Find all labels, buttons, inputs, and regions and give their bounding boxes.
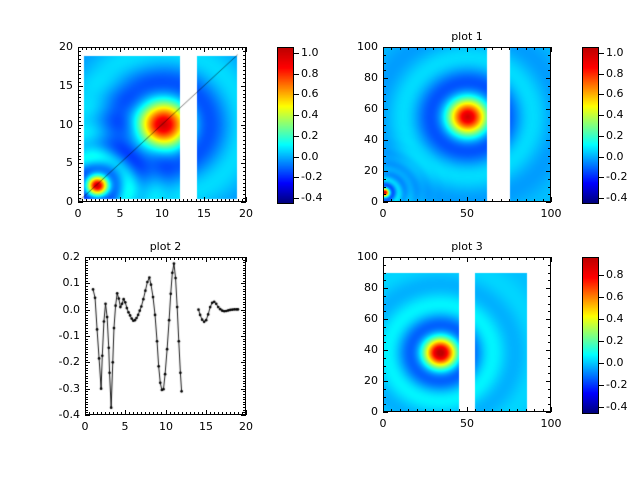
plot3-ytick-minor bbox=[383, 373, 386, 374]
plot1-cbar-tick bbox=[599, 94, 604, 95]
plot0-xtick-minor-top bbox=[170, 47, 171, 50]
plot3-xtick-minor bbox=[408, 409, 409, 412]
plot2-ytick-minor-right bbox=[243, 394, 246, 395]
plot2-ytick-major-right bbox=[241, 415, 246, 416]
plot1-yticklabel: 40 bbox=[335, 133, 378, 146]
plot1-cbar-ticklabel: 0.6 bbox=[606, 87, 640, 100]
plot1-ytick-minor bbox=[383, 132, 386, 133]
plot3-xtick-minor-top bbox=[408, 257, 409, 260]
plot1-ytick-major bbox=[383, 140, 388, 141]
plot3-xticklabel: 100 bbox=[531, 417, 571, 430]
plot3-xtick-minor-top bbox=[501, 257, 502, 260]
plot2-xtick-minor bbox=[113, 412, 114, 415]
plot0-ytick-minor-right bbox=[243, 70, 246, 71]
plot3-xticklabel: 0 bbox=[363, 417, 403, 430]
plot0-xtick-minor bbox=[91, 199, 92, 202]
plot1-ytick-minor-right bbox=[548, 63, 551, 64]
plot3-xtick-minor bbox=[417, 409, 418, 412]
plot2-xtick-minor bbox=[226, 412, 227, 415]
plot2-xtick-minor bbox=[109, 412, 110, 415]
plot0-xticklabel: 20 bbox=[226, 207, 266, 220]
plot3-ytick-major bbox=[383, 381, 388, 382]
plot2-xticklabel: 5 bbox=[105, 420, 145, 433]
plot1-ytick-minor bbox=[383, 125, 386, 126]
plot0-cbar-ticklabel: 0.0 bbox=[301, 150, 341, 163]
plot0-xtick-minor-top bbox=[124, 47, 125, 50]
plot1-yticklabel: 60 bbox=[335, 102, 378, 115]
plot3-xtick-minor-top bbox=[509, 257, 510, 260]
plot2-ytick-minor-right bbox=[243, 402, 246, 403]
plot2-xtick-minor-top bbox=[202, 257, 203, 260]
plot0-xtick-minor bbox=[103, 199, 104, 202]
plot1-cbar-tick bbox=[599, 53, 604, 54]
plot1-cbar-tick bbox=[599, 74, 604, 75]
plot0-ytick-minor bbox=[78, 59, 81, 60]
plot2-xtick-minor bbox=[93, 412, 94, 415]
plot3-xtick-minor-top bbox=[526, 257, 527, 260]
plot0-xtick-minor bbox=[124, 199, 125, 202]
plot2-xtick-minor bbox=[214, 412, 215, 415]
plot1-cbar-ticklabel: 0.2 bbox=[606, 129, 640, 142]
plot0-xtick-minor bbox=[200, 199, 201, 202]
plot0-xtick-minor-top bbox=[112, 47, 113, 50]
plot1-xtick-minor-top bbox=[408, 47, 409, 50]
plot2-ytick-minor-right bbox=[243, 354, 246, 355]
plot0-xtick-minor-top bbox=[107, 47, 108, 50]
plot2-ytick-major bbox=[85, 336, 90, 337]
plot0-xtick-minor-top bbox=[116, 47, 117, 50]
plot0-xtick-major-top bbox=[162, 47, 163, 52]
plot0-ytick-minor bbox=[78, 94, 81, 95]
plot0-ytick-minor bbox=[78, 55, 81, 56]
plot2-yticklabel: -0.4 bbox=[37, 408, 80, 421]
plot3-xtick-minor-top bbox=[543, 257, 544, 260]
plot2-ytick-minor-right bbox=[243, 391, 246, 392]
plot0-ytick-minor-right bbox=[243, 109, 246, 110]
plot2-xtick-major-top bbox=[125, 257, 126, 262]
plot0-cbar-tick bbox=[294, 177, 299, 178]
plot1-yticklabel: 0 bbox=[335, 195, 378, 208]
plot2-yticklabel: 0.1 bbox=[37, 276, 80, 289]
plot0-xtick-minor bbox=[187, 199, 188, 202]
plot0-cbar-tick bbox=[294, 136, 299, 137]
plot1-xtick-minor-top bbox=[417, 47, 418, 50]
plot2-ytick-major-right bbox=[241, 283, 246, 284]
plot3-ytick-major bbox=[383, 288, 388, 289]
plot2-ytick-minor bbox=[85, 352, 88, 353]
plot1-ytick-major-right bbox=[546, 171, 551, 172]
plot3-xtick-minor-top bbox=[442, 257, 443, 260]
plot2-ytick-minor-right bbox=[243, 304, 246, 305]
plot2-ytick-minor-right bbox=[243, 368, 246, 369]
plot2-ytick-major bbox=[85, 362, 90, 363]
plot3-xtick-minor-top bbox=[459, 257, 460, 260]
plot1-ytick-minor-right bbox=[548, 55, 551, 56]
plot0-xtick-minor bbox=[141, 199, 142, 202]
plot2-ytick-minor-right bbox=[243, 383, 246, 384]
plot0-ytick-major bbox=[78, 163, 83, 164]
plot2-xtick-minor bbox=[153, 412, 154, 415]
plot3-yticklabel: 80 bbox=[335, 281, 378, 294]
plot0-xtick-minor bbox=[208, 199, 209, 202]
plot2-ytick-minor bbox=[85, 262, 88, 263]
plot2-ytick-minor-right bbox=[243, 268, 246, 269]
plot0-xtick-minor-top bbox=[91, 47, 92, 50]
plot1-cbar-ticklabel: -0.2 bbox=[606, 170, 640, 183]
plot0-xtick-minor bbox=[158, 199, 159, 202]
plot0-ytick-minor bbox=[78, 128, 81, 129]
plot3-yticklabel: 40 bbox=[335, 343, 378, 356]
plot0-xtick-minor-top bbox=[95, 47, 96, 50]
plot2-xtick-minor-top bbox=[186, 257, 187, 260]
plot0-xtick-minor bbox=[175, 199, 176, 202]
plot2-xtick-minor-top bbox=[97, 257, 98, 260]
plot0-xtick-minor-top bbox=[196, 47, 197, 50]
plot1-ytick-minor-right bbox=[548, 86, 551, 87]
plot0-ytick-minor-right bbox=[243, 94, 246, 95]
plot2-ytick-minor-right bbox=[243, 407, 246, 408]
plot0-ytick-minor-right bbox=[243, 101, 246, 102]
plot2-xtick-minor bbox=[230, 412, 231, 415]
plot2-ytick-minor-right bbox=[243, 262, 246, 263]
plot3-ytick-minor bbox=[383, 358, 386, 359]
plot3-ytick-minor-right bbox=[548, 311, 551, 312]
plot2-xtick-minor-top bbox=[153, 257, 154, 260]
plot3-xtick-minor bbox=[492, 409, 493, 412]
plot2-yticklabel: -0.1 bbox=[37, 329, 80, 342]
plot2-ytick-minor bbox=[85, 347, 88, 348]
plot2-ytick-minor bbox=[85, 268, 88, 269]
plot2-ytick-major-right bbox=[241, 310, 246, 311]
plot2-ytick-minor bbox=[85, 278, 88, 279]
plot3-ytick-major-right bbox=[546, 381, 551, 382]
plot1-ytick-minor bbox=[383, 179, 386, 180]
plot1-colorbar bbox=[582, 47, 599, 204]
plot2-ytick-minor bbox=[85, 299, 88, 300]
plot2-ytick-minor-right bbox=[243, 410, 246, 411]
plot1-yticklabel: 100 bbox=[335, 40, 378, 53]
plot2-xtick-major-top bbox=[206, 257, 207, 262]
plot0-xtick-minor-top bbox=[137, 47, 138, 50]
plot0-xticklabel: 15 bbox=[184, 207, 224, 220]
plot2-ytick-minor-right bbox=[243, 341, 246, 342]
plot3-ytick-minor-right bbox=[548, 404, 551, 405]
plot1-ytick-minor bbox=[383, 148, 386, 149]
plot2-xtick-major-top bbox=[166, 257, 167, 262]
plot1-xtick-major bbox=[551, 197, 552, 202]
plot2-xtick-minor-top bbox=[133, 257, 134, 260]
plot2-xtick-minor-top bbox=[214, 257, 215, 260]
plot1-xtick-minor bbox=[543, 199, 544, 202]
plot3-cbar-tick bbox=[599, 407, 604, 408]
plot2-yticklabel: -0.3 bbox=[37, 382, 80, 395]
plot2-xtick-minor bbox=[186, 412, 187, 415]
plot3-xtick-minor bbox=[433, 409, 434, 412]
plot3-xtick-minor bbox=[543, 409, 544, 412]
plot1-ytick-minor-right bbox=[548, 117, 551, 118]
plot3-cbar-tick bbox=[599, 341, 604, 342]
plot2-title: plot 2 bbox=[85, 240, 246, 253]
plot3-ytick-minor bbox=[383, 327, 386, 328]
plot2-ytick-minor bbox=[85, 331, 88, 332]
plot3-ytick-major bbox=[383, 412, 388, 413]
plot3-cbar-tick bbox=[599, 319, 604, 320]
plot2-ytick-minor bbox=[85, 370, 88, 371]
plot2-xtick-minor bbox=[222, 412, 223, 415]
plot3-cbar-ticklabel: 0.6 bbox=[606, 290, 640, 303]
plot3-xtick-minor-top bbox=[484, 257, 485, 260]
plot2-xtick-minor bbox=[202, 412, 203, 415]
plot0-xtick-minor-top bbox=[187, 47, 188, 50]
plot2-ytick-minor-right bbox=[243, 381, 246, 382]
plot1-xtick-minor bbox=[425, 199, 426, 202]
plot2-ytick-minor bbox=[85, 381, 88, 382]
plot3-yticklabel: 20 bbox=[335, 374, 378, 387]
plot0-ytick-minor-right bbox=[243, 63, 246, 64]
plot2-xtick-minor-top bbox=[157, 257, 158, 260]
plot2-xticklabel: 20 bbox=[226, 420, 266, 433]
plot0-xtick-minor bbox=[116, 199, 117, 202]
plot1-ytick-minor bbox=[383, 194, 386, 195]
plot2-ytick-minor-right bbox=[243, 297, 246, 298]
plot0-cbar-ticklabel: 0.6 bbox=[301, 87, 341, 100]
plot0-cbar-tick bbox=[294, 157, 299, 158]
plot2-ytick-minor-right bbox=[243, 365, 246, 366]
plot3-ytick-minor bbox=[383, 296, 386, 297]
plot2-xtick-minor bbox=[234, 412, 235, 415]
plot1-xtick-minor-top bbox=[492, 47, 493, 50]
plot2-xticklabel: 15 bbox=[186, 420, 226, 433]
plot1-ytick-minor-right bbox=[548, 148, 551, 149]
plot1-ytick-minor-right bbox=[548, 163, 551, 164]
plot2-xtick-minor-top bbox=[145, 257, 146, 260]
plot3-ytick-major-right bbox=[546, 288, 551, 289]
plot0-xtick-minor bbox=[95, 199, 96, 202]
plot3-ytick-minor-right bbox=[548, 273, 551, 274]
plot3-xtick-minor-top bbox=[492, 257, 493, 260]
plot2-ytick-minor-right bbox=[243, 386, 246, 387]
plot2-ytick-minor bbox=[85, 339, 88, 340]
plot0-xtick-minor-top bbox=[141, 47, 142, 50]
plot2-ytick-minor bbox=[85, 323, 88, 324]
plot1-ytick-major bbox=[383, 171, 388, 172]
plot2-ytick-minor-right bbox=[243, 315, 246, 316]
plot0-ytick-minor bbox=[78, 82, 81, 83]
plot1-yticklabel: 80 bbox=[335, 71, 378, 84]
plot0-ytick-minor-right bbox=[243, 105, 246, 106]
plot3-ytick-major bbox=[383, 257, 388, 258]
plot2-xtick-major bbox=[246, 410, 247, 415]
plot0-xtick-minor-top bbox=[103, 47, 104, 50]
plot1-xtick-minor bbox=[417, 199, 418, 202]
plot1-ytick-minor-right bbox=[548, 70, 551, 71]
plot3-xtick-major-top bbox=[467, 257, 468, 262]
plot1-cbar-ticklabel: 0.4 bbox=[606, 108, 640, 121]
plot1-ytick-minor bbox=[383, 63, 386, 64]
plot0-yticklabel: 15 bbox=[30, 79, 73, 92]
plot2-ytick-minor bbox=[85, 399, 88, 400]
plot0-xtick-minor bbox=[128, 199, 129, 202]
plot0-xtick-major bbox=[120, 197, 121, 202]
plot0-xtick-minor-top bbox=[212, 47, 213, 50]
plot3-xtick-minor bbox=[425, 409, 426, 412]
plot0-ytick-major bbox=[78, 47, 83, 48]
plot0-xtick-major bbox=[204, 197, 205, 202]
plot0-xtick-minor-top bbox=[225, 47, 226, 50]
plot0-ytick-minor-right bbox=[243, 152, 246, 153]
plot0-ytick-minor bbox=[78, 97, 81, 98]
plot0-ytick-minor bbox=[78, 121, 81, 122]
plot2-xtick-minor-top bbox=[117, 257, 118, 260]
plot0-ytick-major-right bbox=[241, 47, 246, 48]
plot1-xtick-minor bbox=[534, 199, 535, 202]
plot0-xtick-major bbox=[246, 197, 247, 202]
plot0-xtick-minor bbox=[154, 199, 155, 202]
plot0-ytick-minor-right bbox=[243, 179, 246, 180]
plot0-ytick-minor bbox=[78, 136, 81, 137]
plot2-ytick-minor-right bbox=[243, 328, 246, 329]
plot0-ytick-minor-right bbox=[243, 140, 246, 141]
plot1-xtick-minor-top bbox=[526, 47, 527, 50]
plot2-ytick-minor-right bbox=[243, 270, 246, 271]
plot2-xtick-minor-top bbox=[93, 257, 94, 260]
plot1-xtick-minor-top bbox=[391, 47, 392, 50]
plot2-xtick-minor bbox=[149, 412, 150, 415]
plot1-ytick-minor-right bbox=[548, 125, 551, 126]
plot2-ytick-minor bbox=[85, 302, 88, 303]
plot2-ytick-minor bbox=[85, 407, 88, 408]
plot0-xtick-minor bbox=[149, 199, 150, 202]
plot2-ytick-minor-right bbox=[243, 331, 246, 332]
plot3-xtick-minor bbox=[391, 409, 392, 412]
plot2-ytick-minor-right bbox=[243, 333, 246, 334]
plot2-ytick-minor bbox=[85, 412, 88, 413]
plot2-xtick-minor-top bbox=[161, 257, 162, 260]
plot3-ytick-minor-right bbox=[548, 397, 551, 398]
plot3-xtick-major bbox=[467, 407, 468, 412]
plot0-ytick-minor-right bbox=[243, 59, 246, 60]
plot3-ytick-major-right bbox=[546, 412, 551, 413]
plot0-xtick-minor bbox=[170, 199, 171, 202]
plot2-xtick-minor bbox=[137, 412, 138, 415]
plot2-ytick-minor bbox=[85, 360, 88, 361]
plot2-ytick-minor bbox=[85, 333, 88, 334]
plot2-xtick-minor bbox=[210, 412, 211, 415]
plot3-ytick-minor-right bbox=[548, 366, 551, 367]
plot0-ytick-minor-right bbox=[243, 187, 246, 188]
plot3-xtick-minor-top bbox=[450, 257, 451, 260]
plot0-ytick-minor bbox=[78, 51, 81, 52]
plot0-ytick-minor bbox=[78, 113, 81, 114]
plot2-xtick-minor bbox=[157, 412, 158, 415]
plot1-ytick-major bbox=[383, 109, 388, 110]
plot1-heatmap bbox=[384, 48, 550, 201]
plot2-ytick-minor-right bbox=[243, 349, 246, 350]
plot2-ytick-minor-right bbox=[243, 302, 246, 303]
plot1-ytick-major bbox=[383, 47, 388, 48]
plot3-yticklabel: 100 bbox=[335, 250, 378, 263]
plot2-ytick-minor-right bbox=[243, 339, 246, 340]
plot0-xtick-minor bbox=[233, 199, 234, 202]
plot1-ytick-minor-right bbox=[548, 179, 551, 180]
plot2-ytick-minor bbox=[85, 394, 88, 395]
plot0-xtick-minor-top bbox=[200, 47, 201, 50]
plot1-ytick-minor bbox=[383, 163, 386, 164]
plot1-ytick-major bbox=[383, 202, 388, 203]
plot3-ytick-minor-right bbox=[548, 358, 551, 359]
plot2-ytick-major bbox=[85, 389, 90, 390]
plot2-xtick-minor bbox=[190, 412, 191, 415]
plot2-xtick-major-top bbox=[246, 257, 247, 262]
plot3-ytick-minor bbox=[383, 404, 386, 405]
plot0-xtick-minor-top bbox=[149, 47, 150, 50]
plot2-ytick-minor bbox=[85, 354, 88, 355]
plot1-ytick-major-right bbox=[546, 109, 551, 110]
plot0-ytick-minor-right bbox=[243, 113, 246, 114]
plot2-ytick-minor bbox=[85, 273, 88, 274]
plot1-ytick-minor bbox=[383, 117, 386, 118]
plot0-ytick-major-right bbox=[241, 163, 246, 164]
plot0-ytick-minor-right bbox=[243, 167, 246, 168]
plot2-ytick-minor bbox=[85, 328, 88, 329]
plot0-ytick-major bbox=[78, 202, 83, 203]
plot2-ytick-minor bbox=[85, 291, 88, 292]
plot0-ytick-minor bbox=[78, 70, 81, 71]
plot0-ytick-minor-right bbox=[243, 82, 246, 83]
plot2-ytick-minor bbox=[85, 325, 88, 326]
plot3-ytick-major-right bbox=[546, 319, 551, 320]
plot0-ytick-minor bbox=[78, 175, 81, 176]
plot3-ytick-minor bbox=[383, 265, 386, 266]
plot3-ytick-minor-right bbox=[548, 265, 551, 266]
plot0-heatmap bbox=[79, 48, 245, 201]
plot1-xtick-minor-top bbox=[475, 47, 476, 50]
plot2-ytick-minor bbox=[85, 344, 88, 345]
plot1-cbar-tick bbox=[599, 157, 604, 158]
plot2-xtick-minor-top bbox=[109, 257, 110, 260]
plot2-ytick-minor-right bbox=[243, 275, 246, 276]
plot0-xtick-minor bbox=[183, 199, 184, 202]
plot1-xtick-minor-top bbox=[450, 47, 451, 50]
plot2-xtick-minor bbox=[141, 412, 142, 415]
plot1-xtick-minor bbox=[433, 199, 434, 202]
plot2-xtick-minor-top bbox=[101, 257, 102, 260]
plot3-cbar-tick bbox=[599, 275, 604, 276]
plot0-ytick-minor-right bbox=[243, 136, 246, 137]
plot2-ytick-minor-right bbox=[243, 286, 246, 287]
plot2-ytick-minor-right bbox=[243, 357, 246, 358]
plot0-xtick-major-top bbox=[246, 47, 247, 52]
plot1-xtick-minor bbox=[459, 199, 460, 202]
plot0-cbar-tick bbox=[294, 115, 299, 116]
plot1-ytick-minor bbox=[383, 187, 386, 188]
plot1-xtick-major bbox=[467, 197, 468, 202]
plot2-xtick-minor bbox=[101, 412, 102, 415]
plot2-ytick-minor-right bbox=[243, 318, 246, 319]
plot2-yticklabel: 0.2 bbox=[37, 250, 80, 263]
plot3-ytick-minor bbox=[383, 389, 386, 390]
plot2-xtick-minor bbox=[178, 412, 179, 415]
plot0-xticklabel: 10 bbox=[142, 207, 182, 220]
plot1-xtick-minor-top bbox=[517, 47, 518, 50]
plot3-ytick-minor-right bbox=[548, 373, 551, 374]
plot3-ytick-minor-right bbox=[548, 280, 551, 281]
plot3-ytick-minor-right bbox=[548, 335, 551, 336]
plot0-xtick-minor bbox=[137, 199, 138, 202]
plot0-ytick-minor bbox=[78, 187, 81, 188]
plot2-ytick-minor bbox=[85, 270, 88, 271]
plot0-ytick-minor bbox=[78, 198, 81, 199]
